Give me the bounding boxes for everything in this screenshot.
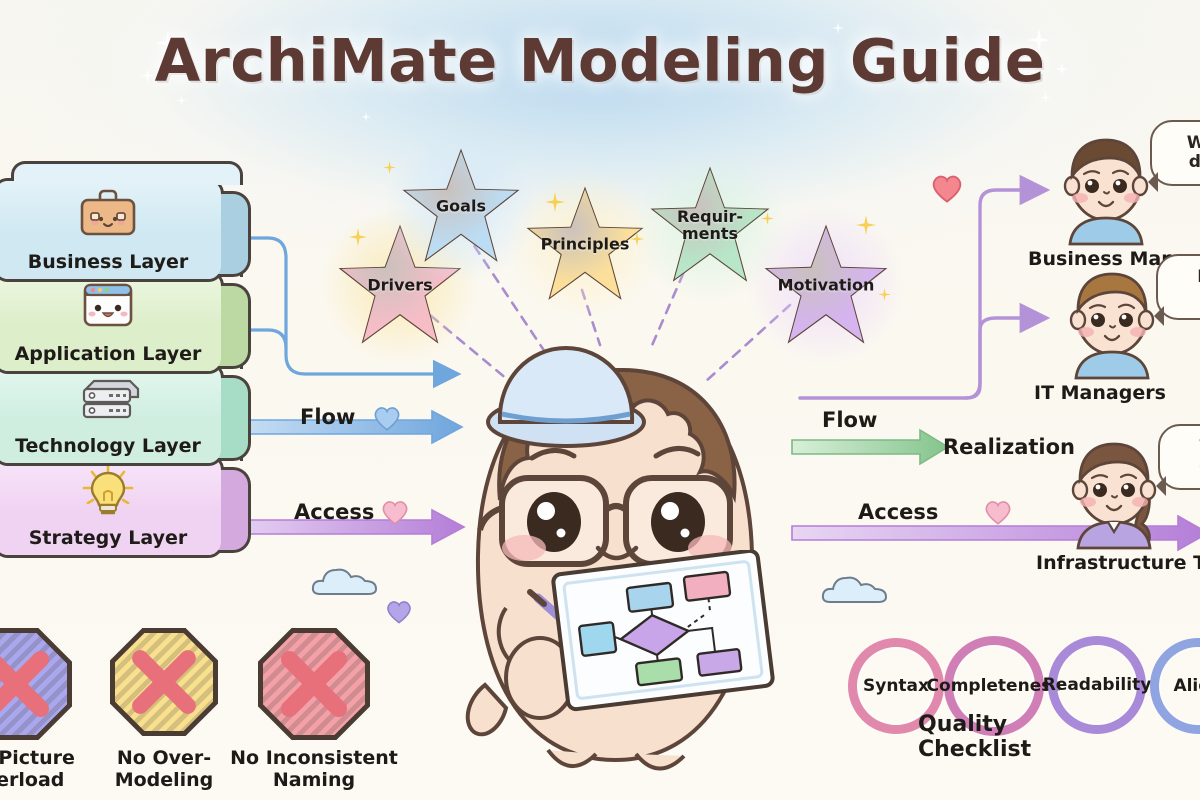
cross-icon: [258, 628, 370, 744]
diagram-board: [548, 550, 778, 730]
speech-bubble-tail: [1156, 476, 1166, 496]
avatar: [1060, 432, 1168, 550]
heart-icon: [385, 598, 413, 624]
avatar-wrap: [1052, 128, 1160, 250]
avatar-wrap: [1060, 432, 1168, 554]
access-label-left: Access: [294, 500, 374, 524]
star-label: Goals: [400, 199, 522, 216]
flow-arrow-right: [792, 430, 948, 464]
stakeholder-label: IT Managers: [1034, 382, 1166, 404]
quality-label: Readability: [1043, 675, 1152, 695]
lightbulb-icon: [79, 463, 137, 523]
antipattern-label: No InconsistentNaming: [218, 748, 410, 792]
quality-ring-4[interactable]: Align: [1150, 638, 1200, 734]
speech-bubble-tail: [1148, 172, 1158, 192]
infographic-canvas: ArchiMate Modeling Guide Business LayerA…: [0, 0, 1200, 800]
motivation-star-2[interactable]: Goals: [400, 146, 522, 268]
layer-label: Business Layer: [0, 251, 221, 273]
flow-label-right: Flow: [822, 408, 877, 432]
star-label: Principles: [524, 237, 646, 254]
server-icon: [76, 371, 140, 427]
stakeholder-label: Infrastructure Team: [1036, 552, 1200, 574]
avatar: [1058, 262, 1166, 380]
layer-label: Strategy Layer: [0, 527, 221, 549]
avatar: [1052, 128, 1160, 246]
cross-icon: [0, 628, 72, 744]
layer-label: Application Layer: [0, 343, 221, 365]
heart-icon: [930, 172, 964, 203]
flow-label-left: Flow: [300, 405, 355, 429]
heart-icon: [380, 498, 410, 525]
layer-block-4[interactable]: Strategy Layer: [0, 454, 224, 558]
layer-label: Technology Layer: [0, 435, 221, 457]
heart-icon: [372, 404, 402, 431]
quality-label: Completeness: [927, 676, 1062, 696]
realization-label: Realization: [943, 435, 1075, 459]
antipattern-badge-3[interactable]: [258, 628, 370, 740]
cloud-icon: [310, 562, 380, 602]
cloud-icon: [820, 570, 890, 610]
layer-block-2[interactable]: Application Layer: [0, 270, 224, 374]
access-label-right: Access: [858, 500, 938, 524]
speech-bubble-tail: [1154, 306, 1164, 326]
heart-icon: [983, 498, 1013, 525]
layer-block-3[interactable]: Technology Layer: [0, 362, 224, 466]
briefcase-icon: [77, 187, 139, 243]
star-label: Motivation: [762, 278, 890, 295]
quality-checklist-title: Quality Checklist: [918, 712, 1106, 762]
cross-icon: [110, 628, 218, 740]
star-label: Requir-ments: [648, 209, 772, 243]
app-window-icon: [79, 279, 137, 335]
avatar-wrap: [1058, 262, 1166, 384]
layer-block-1[interactable]: Business Layer: [0, 178, 224, 282]
antipattern-badge-1[interactable]: [0, 628, 72, 740]
motivation-star-3[interactable]: Principles: [524, 184, 646, 306]
antipattern-badge-2[interactable]: [110, 628, 218, 736]
quality-label: Syntax: [863, 676, 929, 696]
quality-label: Align: [1173, 676, 1200, 696]
